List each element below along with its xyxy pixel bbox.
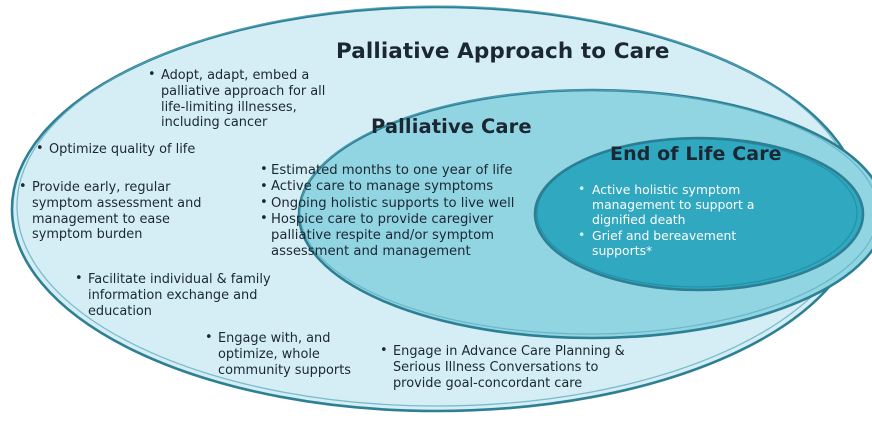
list-item: Active care to manage symptoms xyxy=(260,179,550,195)
list-item: Facilitate individual & family informati… xyxy=(75,272,275,319)
inner-bullet-group: Active holistic symptom management to su… xyxy=(578,182,778,258)
outer-bullet-group-1: Adopt, adapt, embed a palliative approac… xyxy=(148,68,338,131)
middle-bullet-group: Estimated months to one year of life Act… xyxy=(260,163,550,261)
ring-title-palliative-care: Palliative Care xyxy=(371,115,532,138)
list-item: Hospice care to provide caregiver pallia… xyxy=(260,212,550,261)
list-item: Active holistic symptom management to su… xyxy=(578,182,778,228)
list-item: Engage with, and optimize, whole communi… xyxy=(205,331,375,378)
list-item: Grief and bereavement supports* xyxy=(578,228,778,258)
list-item: Provide early, regular symptom assessmen… xyxy=(19,180,219,243)
list-item: Engage in Advance Care Planning & Seriou… xyxy=(380,344,630,391)
list-item: Ongoing holistic supports to live well xyxy=(260,196,550,212)
ring-title-end-of-life-care: End of Life Care xyxy=(610,143,782,165)
outer-bullet-group-2: Optimize quality of life xyxy=(36,142,256,158)
outer-bullet-group-6: Engage in Advance Care Planning & Seriou… xyxy=(380,344,630,391)
diagram-canvas: Palliative Approach to Care Palliative C… xyxy=(0,0,872,425)
list-item: Optimize quality of life xyxy=(36,142,256,158)
outer-bullet-group-3: Provide early, regular symptom assessmen… xyxy=(19,180,219,243)
list-item: Estimated months to one year of life xyxy=(260,163,550,179)
outer-bullet-group-5: Engage with, and optimize, whole communi… xyxy=(205,331,375,378)
ring-title-palliative-approach-to-care: Palliative Approach to Care xyxy=(336,39,670,64)
outer-bullet-group-4: Facilitate individual & family informati… xyxy=(75,272,275,319)
list-item: Adopt, adapt, embed a palliative approac… xyxy=(148,68,338,131)
